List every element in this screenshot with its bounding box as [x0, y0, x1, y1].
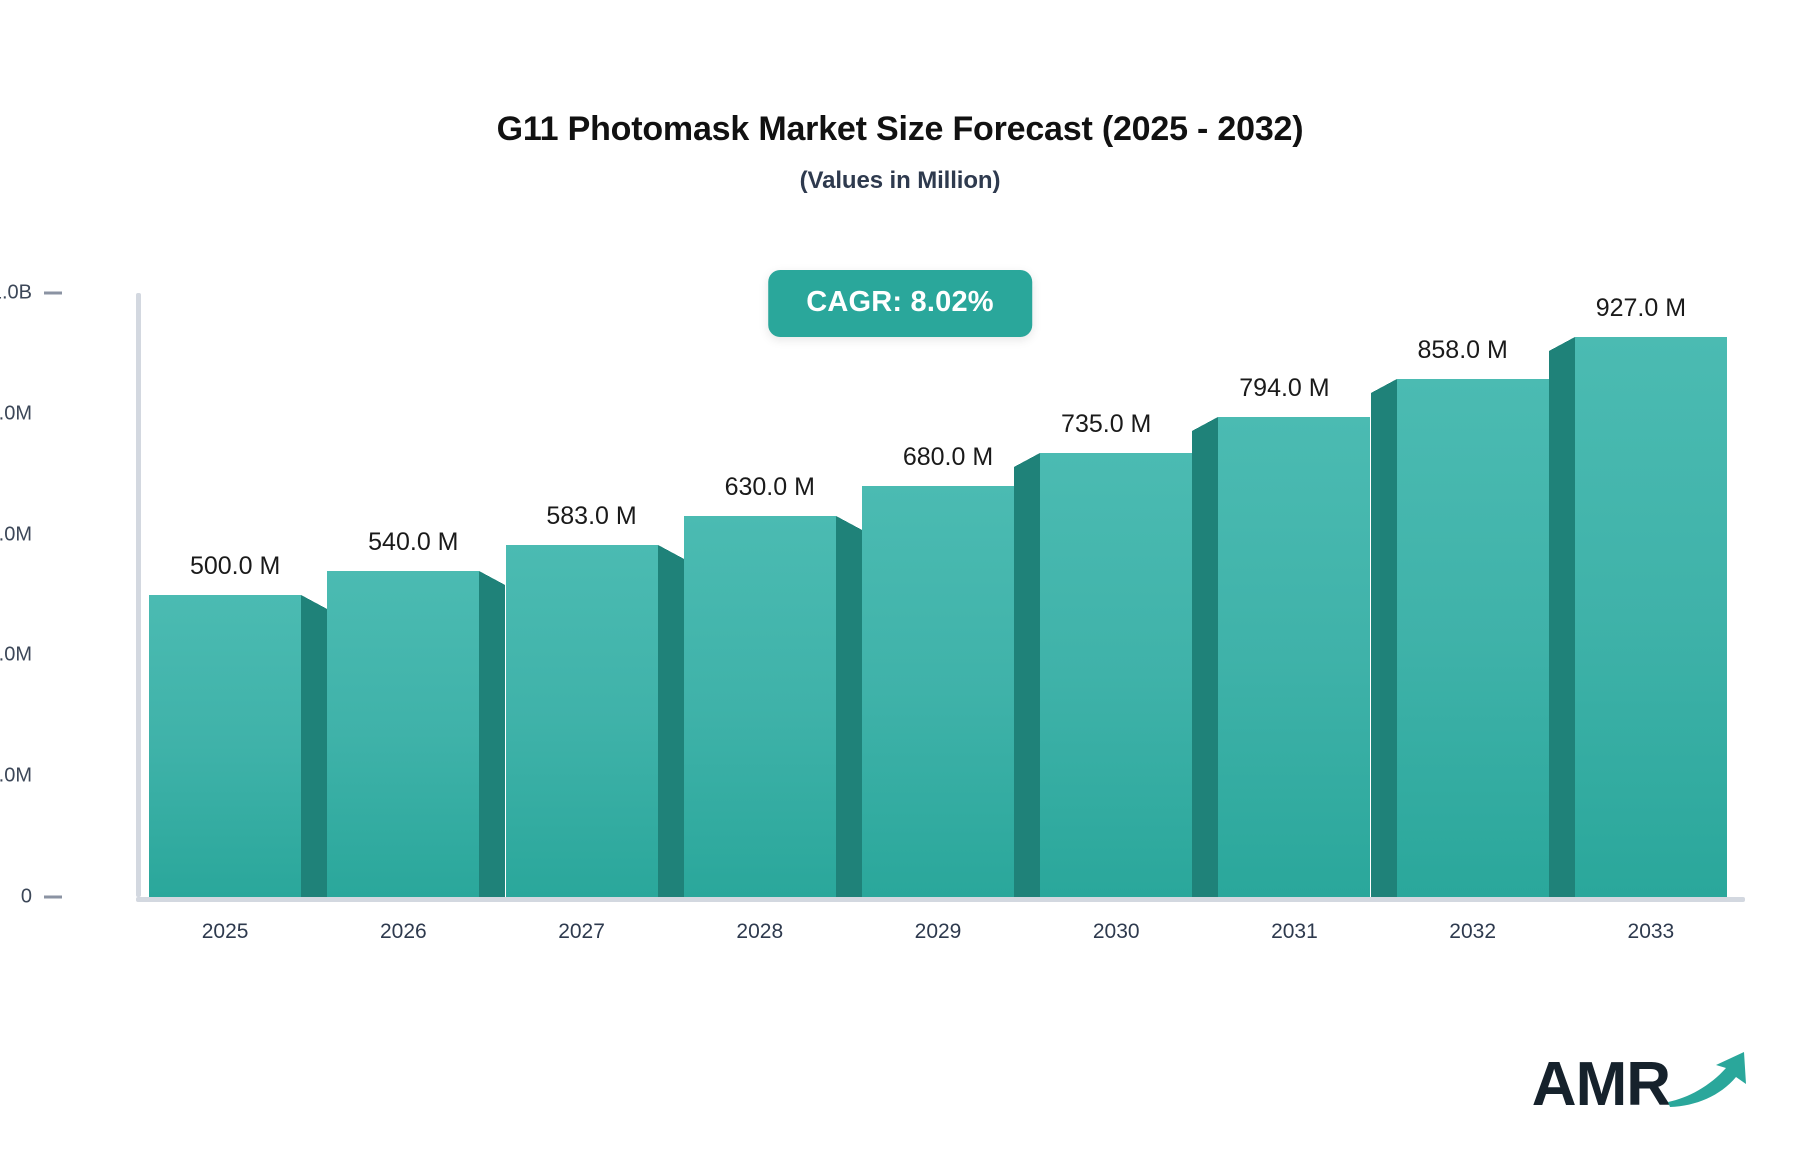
- bar-top-bevel: [836, 516, 862, 530]
- bar-side-face: [1014, 467, 1040, 897]
- y-tick-text: 400.0M: [0, 644, 32, 666]
- bar-value-label: 794.0 M: [1239, 374, 1329, 403]
- y-tick-text: 200.0M: [0, 765, 32, 787]
- bar-top-bevel: [1371, 379, 1397, 393]
- bar-2031: 794.0 M: [1218, 417, 1370, 897]
- bar-2032: 858.0 M: [1397, 379, 1549, 897]
- bar-face: [149, 595, 301, 897]
- bar-side-face: [1549, 351, 1575, 897]
- bar-2026: 540.0 M: [327, 571, 479, 897]
- y-tick-label: 600.0M: [0, 523, 62, 546]
- y-tick-text: 600.0M: [0, 523, 32, 545]
- bar-face: [327, 571, 479, 897]
- bar-face: [1575, 337, 1727, 897]
- cagr-badge: CAGR: 8.02%: [768, 270, 1032, 337]
- bar-face: [1040, 453, 1192, 897]
- x-tick-label: 2026: [380, 920, 427, 944]
- y-tick-text: 800.0M: [0, 402, 32, 424]
- bar-2028: 630.0 M: [684, 516, 836, 897]
- y-tick-dash: [44, 292, 62, 295]
- bar-value-label: 630.0 M: [725, 473, 815, 502]
- bar-value-label: 583.0 M: [546, 502, 636, 531]
- x-tick-label: 2025: [202, 920, 249, 944]
- bar-side-face: [301, 609, 327, 897]
- bar-2029: 680.0 M: [862, 486, 1014, 897]
- bar-2030: 735.0 M: [1040, 453, 1192, 897]
- x-tick-label: 2029: [915, 920, 962, 944]
- bar-face: [684, 516, 836, 897]
- x-tick-label: 2027: [558, 920, 605, 944]
- bar-side-face: [836, 530, 862, 897]
- y-tick-label: 400.0M: [0, 644, 62, 667]
- x-tick-label: 2032: [1449, 920, 1496, 944]
- bar-top-bevel: [479, 571, 505, 585]
- bar-value-label: 680.0 M: [903, 443, 993, 472]
- bar-face: [1397, 379, 1549, 897]
- chart-subtitle: (Values in Million): [0, 167, 1800, 195]
- bar-value-label: 927.0 M: [1596, 294, 1686, 323]
- y-tick-text: 1.0B: [0, 282, 32, 304]
- bar-value-label: 540.0 M: [368, 528, 458, 557]
- bar-2027: 583.0 M: [506, 545, 658, 897]
- plot-area: 500.0 M540.0 M583.0 M630.0 M680.0 M735.0…: [136, 293, 1740, 897]
- chart-container: G11 Photomask Market Size Forecast (2025…: [0, 0, 1800, 1156]
- amr-logo: AMR: [1532, 1048, 1752, 1116]
- bar-value-label: 500.0 M: [190, 552, 280, 581]
- growth-arrow-icon: [1666, 1048, 1752, 1110]
- bar-side-face: [479, 585, 505, 897]
- y-tick-label: 800.0M: [0, 402, 62, 425]
- y-tick-label: 200.0M: [0, 765, 62, 788]
- page-title: G11 Photomask Market Size Forecast (2025…: [0, 108, 1800, 151]
- bar-top-bevel: [1549, 337, 1575, 351]
- bar-side-face: [1192, 431, 1218, 897]
- x-tick-label: 2033: [1628, 920, 1675, 944]
- x-axis-line: [136, 897, 1745, 902]
- bar-top-bevel: [1014, 453, 1040, 467]
- bar-face: [862, 486, 1014, 897]
- y-axis-line: [136, 293, 141, 897]
- x-tick-label: 2028: [736, 920, 783, 944]
- bar-side-face: [1371, 393, 1397, 897]
- y-tick-label: 1.0B: [0, 282, 62, 305]
- amr-wordmark: AMR: [1532, 1054, 1670, 1116]
- bar-face: [1218, 417, 1370, 897]
- y-tick-dash: [44, 896, 62, 899]
- bar-top-bevel: [658, 545, 684, 559]
- chart-header: G11 Photomask Market Size Forecast (2025…: [0, 108, 1800, 195]
- bar-value-label: 735.0 M: [1061, 410, 1151, 439]
- bar-top-bevel: [1192, 417, 1218, 431]
- bar-2033: 927.0 M: [1575, 337, 1727, 897]
- bar-2025: 500.0 M: [149, 595, 301, 897]
- x-tick-label: 2030: [1093, 920, 1140, 944]
- bar-value-label: 858.0 M: [1417, 336, 1507, 365]
- bar-side-face: [658, 559, 684, 897]
- x-tick-label: 2031: [1271, 920, 1318, 944]
- bar-top-bevel: [301, 595, 327, 609]
- y-tick-text: 0: [21, 886, 32, 908]
- y-tick-label: 0: [0, 886, 62, 909]
- bar-face: [506, 545, 658, 897]
